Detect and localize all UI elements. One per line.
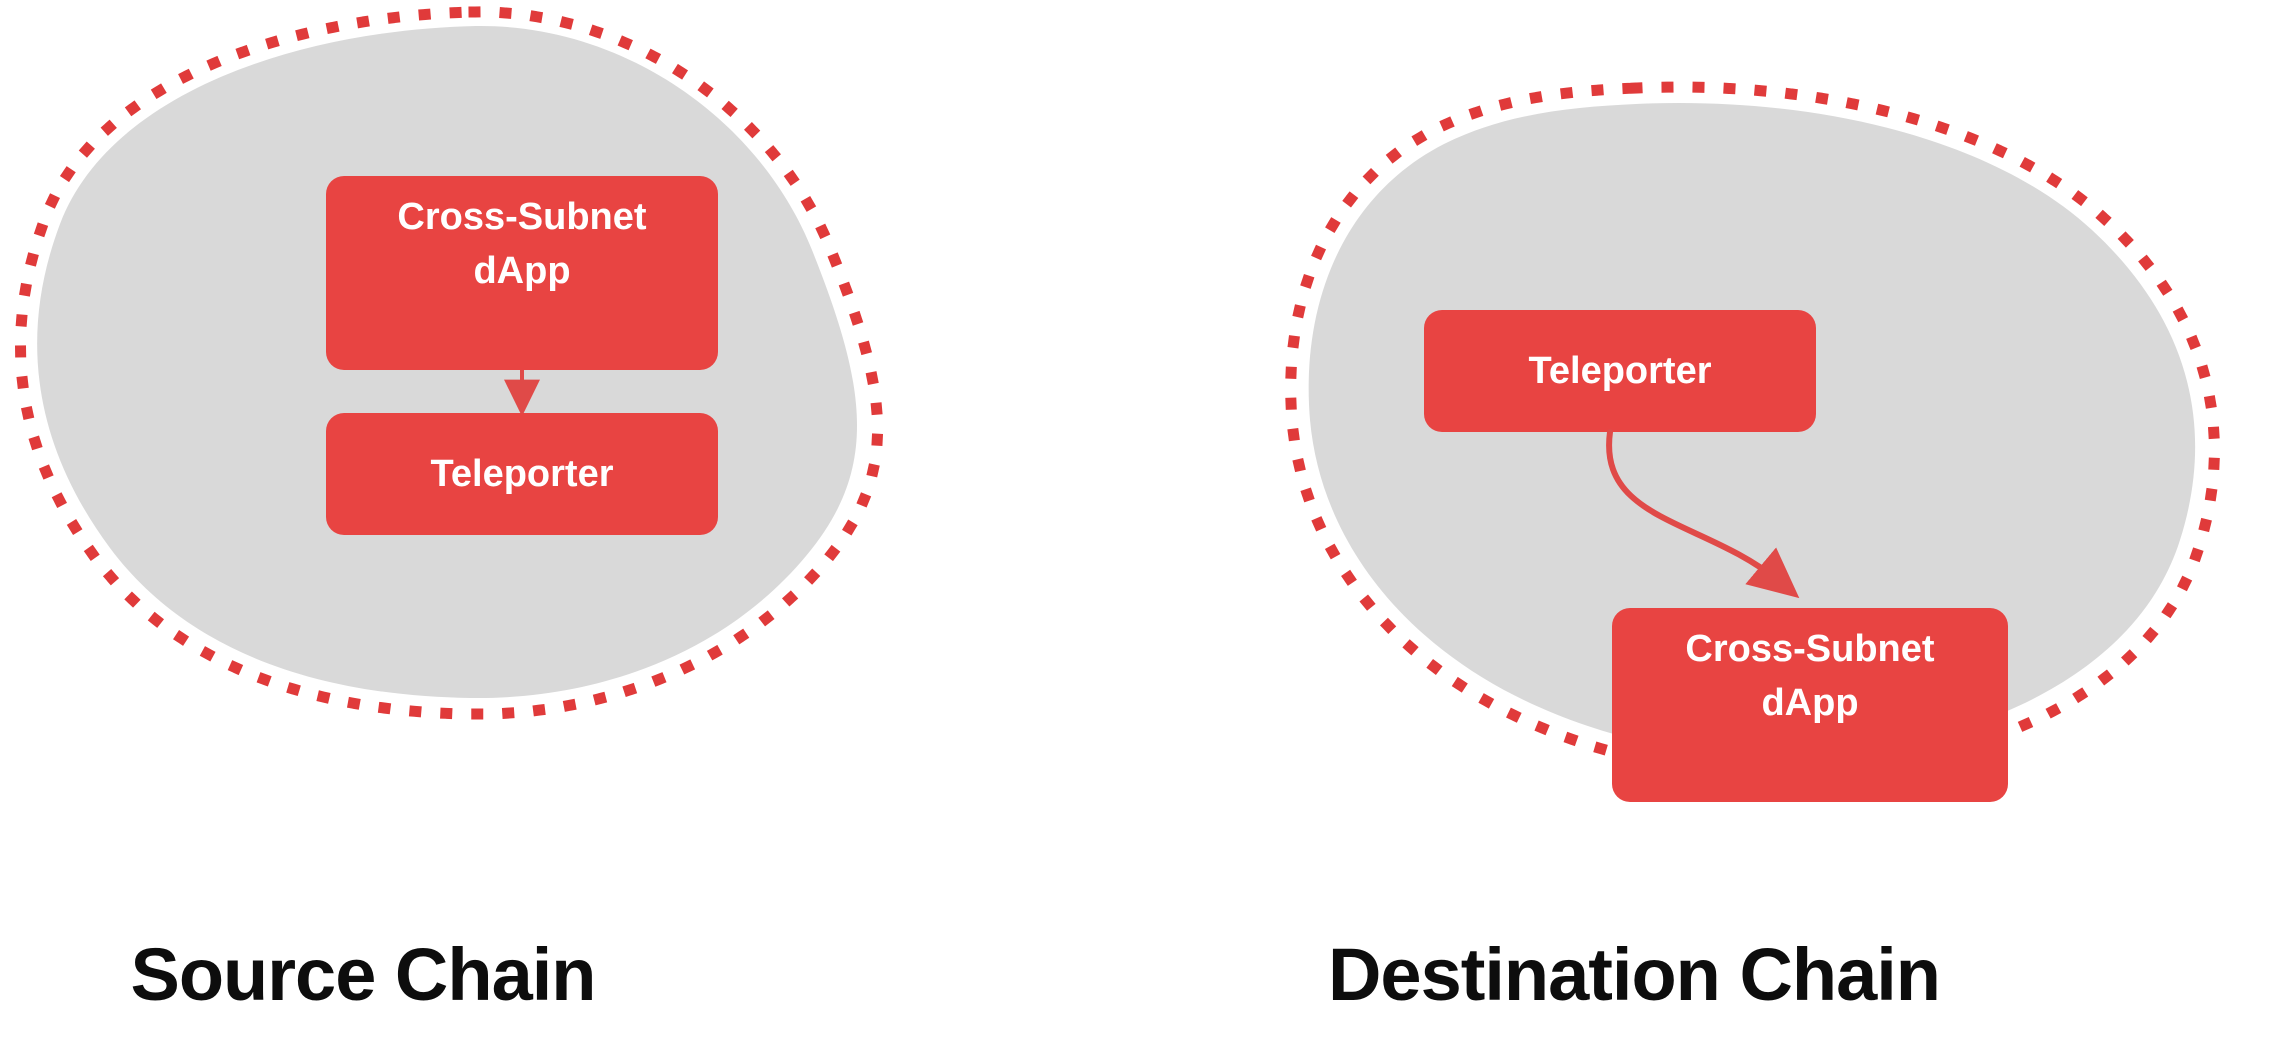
diagram-root: Cross-Subnet dApp Teleporter Source Chai… — [0, 0, 2292, 1054]
caption-destination-chain: Destination Chain — [1328, 933, 1940, 1016]
node-dest-teleporter[interactable]: Teleporter — [1424, 310, 1816, 432]
node-dest-dapp-label-line2: dApp — [1761, 682, 1858, 724]
node-source-dapp-label-line1: Cross-Subnet — [397, 196, 646, 238]
diagram-canvas: Cross-Subnet dApp Teleporter Source Chai… — [0, 0, 2292, 1054]
node-source-teleporter-label: Teleporter — [430, 453, 613, 495]
node-source-teleporter[interactable]: Teleporter — [326, 413, 718, 535]
node-source-dapp-label-line2: dApp — [473, 250, 570, 292]
caption-source-chain: Source Chain — [131, 933, 596, 1016]
panel-destination-chain: Teleporter Cross-Subnet dApp Destination… — [1291, 87, 2215, 1016]
panel-source-chain: Cross-Subnet dApp Teleporter Source Chai… — [21, 12, 878, 1016]
node-dest-dapp[interactable]: Cross-Subnet dApp — [1612, 608, 2008, 802]
node-source-dapp[interactable]: Cross-Subnet dApp — [326, 176, 718, 370]
node-dest-dapp-label-line1: Cross-Subnet — [1685, 628, 1934, 670]
node-dest-teleporter-label: Teleporter — [1528, 350, 1711, 392]
